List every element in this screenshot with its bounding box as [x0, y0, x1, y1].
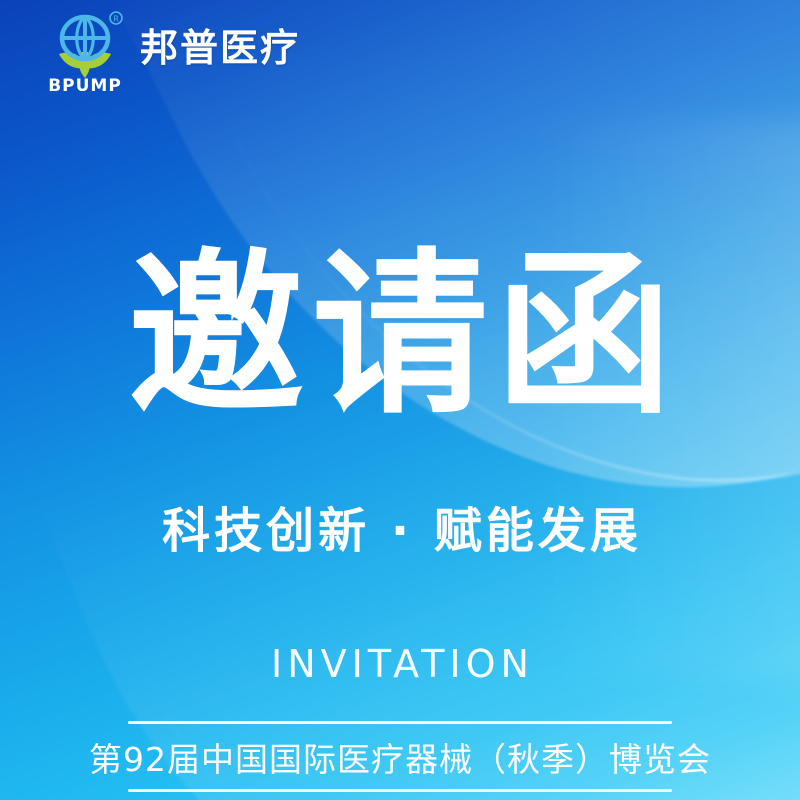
invitation-en-block: INVITATION [0, 645, 800, 683]
subtitle-block: 科技创新 · 赋能发展 [0, 505, 800, 558]
invitation-english-label: INVITATION [266, 645, 534, 683]
headline-block: 邀请函 [0, 248, 800, 424]
divider-top [128, 721, 672, 724]
divider-bottom [128, 789, 672, 792]
event-name-block: 第92届中国国际医疗器械（秋季）博览会 [0, 740, 800, 780]
svg-text:BPUMP: BPUMP [48, 76, 122, 94]
subtitle-slogan: 科技创新 · 赋能发展 [158, 505, 642, 558]
svg-text:R: R [113, 14, 119, 23]
bpump-logo-icon: R BPUMP [44, 8, 126, 94]
brand-header: R BPUMP 邦普医疗 [44, 8, 300, 94]
event-name: 第92届中国国际医疗器械（秋季）博览会 [89, 740, 711, 780]
invitation-poster: R BPUMP 邦普医疗 邀请函 科技创新 · 赋能发展 INVITATION … [0, 0, 800, 800]
headline-title: 邀请函 [120, 248, 680, 424]
brand-name: 邦普医疗 [140, 29, 300, 67]
